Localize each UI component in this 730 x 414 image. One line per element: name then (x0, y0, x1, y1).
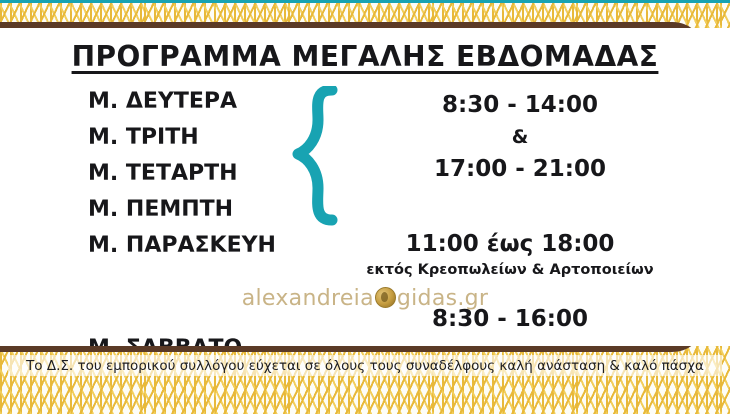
friday-exception-note: εκτός Κρεοπωλείων & Αρτοποιείων (300, 262, 720, 278)
content-card: ΠΡΟΓΡΑΜΜΑ ΜΕΓΑΛΗΣ ΕΒΔΟΜΑΔΑΣ Μ. ΔΕΥΤΕΡΑ Μ… (0, 28, 730, 346)
day-row-thursday: Μ. ΠΕΜΠΤΗ (88, 192, 308, 228)
page-title: ΠΡΟΓΡΑΜΜΑ ΜΕΓΑΛΗΣ ΕΒΔΟΜΑΔΑΣ (0, 40, 730, 73)
easter-schedule-poster: ΠΡΟΓΡΑΜΜΑ ΜΕΓΑΛΗΣ ΕΒΔΟΜΑΔΑΣ Μ. ΔΕΥΤΕΡΑ Μ… (0, 0, 730, 414)
day-row-monday: Μ. ΔΕΥΤΕΡΑ (88, 84, 308, 120)
top-teal-strip (0, 0, 730, 3)
grouped-hours-block: 8:30 - 14:00 & 17:00 - 21:00 (360, 88, 680, 186)
saturday-hours: 8:30 - 16:00 (330, 306, 690, 332)
day-row-friday: Μ. ΠΑΡΑΣΚΕΥΗ (88, 228, 308, 264)
curly-brace-icon (292, 86, 344, 226)
friday-hours: 11:00 έως 18:00 (330, 231, 690, 257)
day-row-saturday: Μ. ΣΑΒΒΑΤΟ (88, 331, 242, 346)
coin-logo-icon (375, 287, 396, 308)
hours-separator: & (360, 122, 680, 152)
day-row-tuesday: Μ. ΤΡΙΤΗ (88, 120, 308, 156)
day-row-wednesday: Μ. ΤΕΤΑΡΤΗ (88, 156, 308, 192)
morning-hours: 8:30 - 14:00 (360, 88, 680, 122)
day-list: Μ. ΔΕΥΤΕΡΑ Μ. ΤΡΙΤΗ Μ. ΤΕΤΑΡΤΗ Μ. ΠΕΜΠΤΗ… (88, 84, 308, 264)
footer-greeting: Το Δ.Σ. του εμπορικού συλλόγου εύχεται σ… (0, 358, 730, 374)
evening-hours: 17:00 - 21:00 (360, 152, 680, 186)
